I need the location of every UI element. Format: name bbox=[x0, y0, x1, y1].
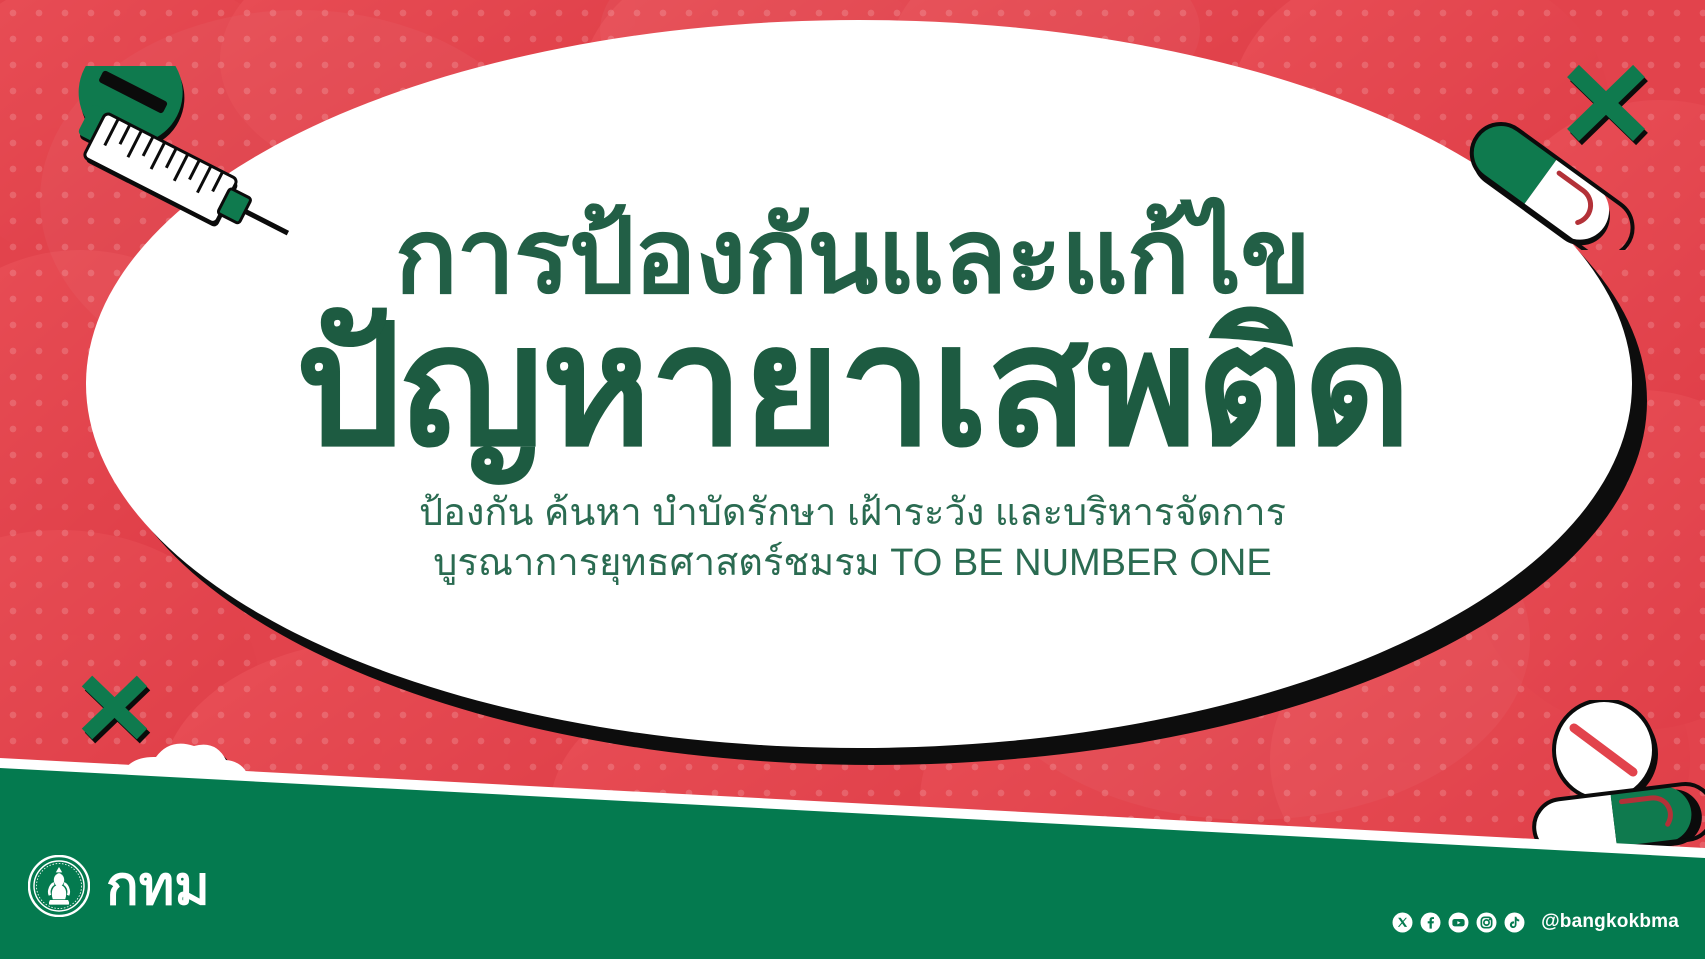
tiktok-icon[interactable] bbox=[1504, 912, 1525, 933]
bma-abbreviation: กทม bbox=[106, 859, 210, 913]
facebook-icon[interactable] bbox=[1420, 912, 1441, 933]
bma-seal-icon bbox=[28, 855, 90, 917]
ellipse-plate bbox=[86, 20, 1632, 748]
instagram-icon[interactable] bbox=[1476, 912, 1497, 933]
social-handle-text: @bangkokbma bbox=[1541, 911, 1679, 933]
poster-canvas: การป้องกันและแก้ไข ปัญหายาเสพติด ป้องกัน… bbox=[0, 0, 1705, 959]
youtube-icon[interactable] bbox=[1448, 912, 1469, 933]
capsule-pill-top-right bbox=[1448, 110, 1638, 250]
bma-logo: กทม bbox=[28, 855, 210, 917]
social-links[interactable]: @bangkokbma bbox=[1392, 911, 1679, 933]
x-twitter-icon[interactable] bbox=[1392, 912, 1413, 933]
syringe-illustration bbox=[46, 66, 308, 276]
